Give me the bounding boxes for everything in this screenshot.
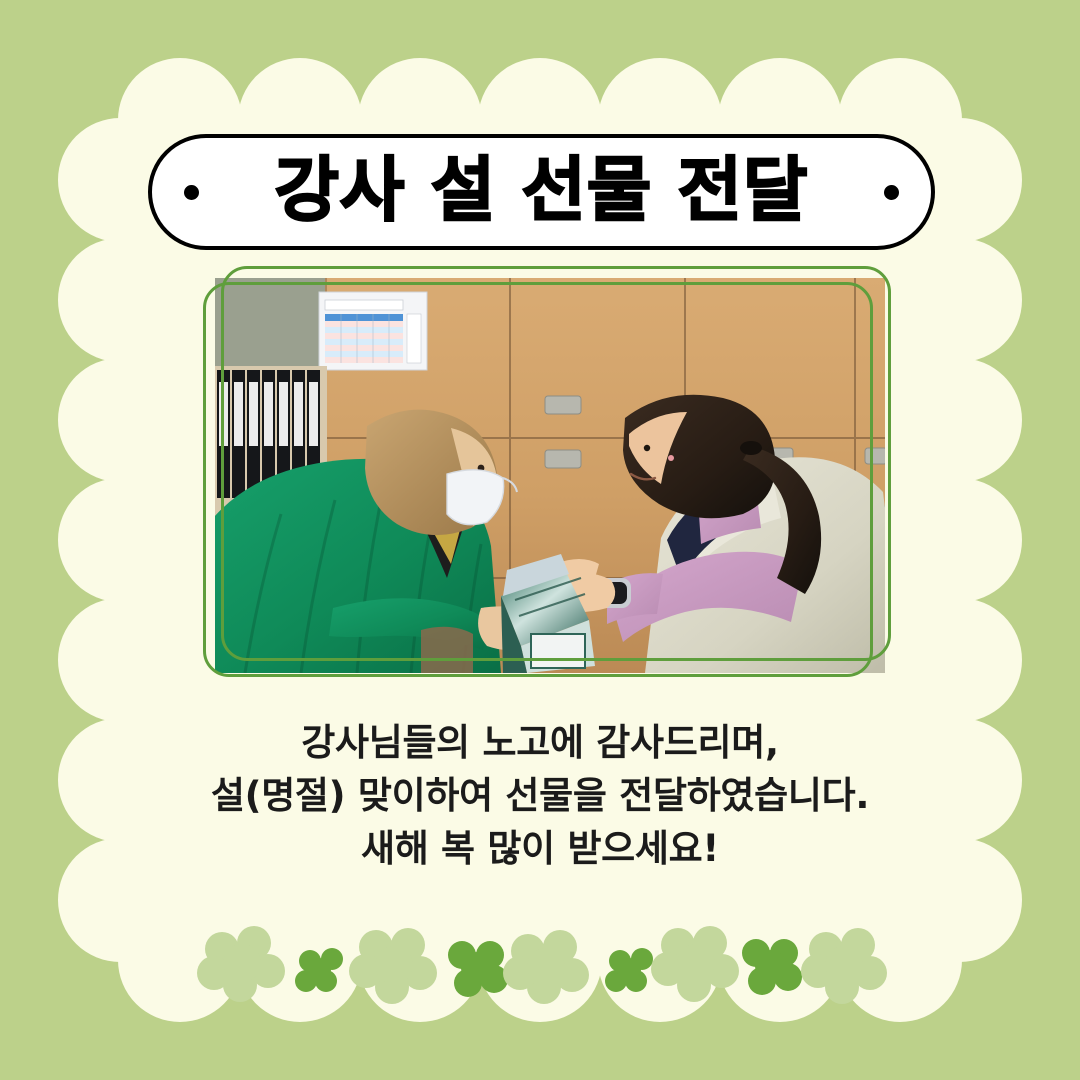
event-photo xyxy=(215,278,885,673)
flower-icon-3 xyxy=(349,928,437,1004)
banner-dot-left-icon xyxy=(184,185,199,200)
photo-block xyxy=(215,278,885,673)
flower-icon-9 xyxy=(801,928,887,1004)
body-line-1: 강사님들의 노고에 감사드리며, xyxy=(0,716,1080,769)
body-copy: 강사님들의 노고에 감사드리며, 설(명절) 맞이하여 선물을 전달하였습니다.… xyxy=(0,716,1080,875)
flower-icon-7 xyxy=(651,926,739,1002)
flower-icon-8 xyxy=(742,939,802,995)
flower-icon-2 xyxy=(295,948,343,992)
flower-icon-6 xyxy=(605,948,653,992)
title-banner: 강사 설 선물 전달 xyxy=(148,134,935,250)
flower-decoration-row xyxy=(0,925,1080,1005)
poster-canvas: 강사 설 선물 전달 xyxy=(0,0,1080,1080)
banner-dot-right-icon xyxy=(884,185,899,200)
page-title: 강사 설 선물 전달 xyxy=(275,155,809,229)
flower-icon-4 xyxy=(448,941,508,997)
body-line-3: 새해 복 많이 받으세요! xyxy=(0,822,1080,875)
flower-icon-5 xyxy=(503,930,589,1004)
flower-icon-1 xyxy=(197,926,285,1002)
body-line-2: 설(명절) 맞이하여 선물을 전달하였습니다. xyxy=(0,769,1080,822)
